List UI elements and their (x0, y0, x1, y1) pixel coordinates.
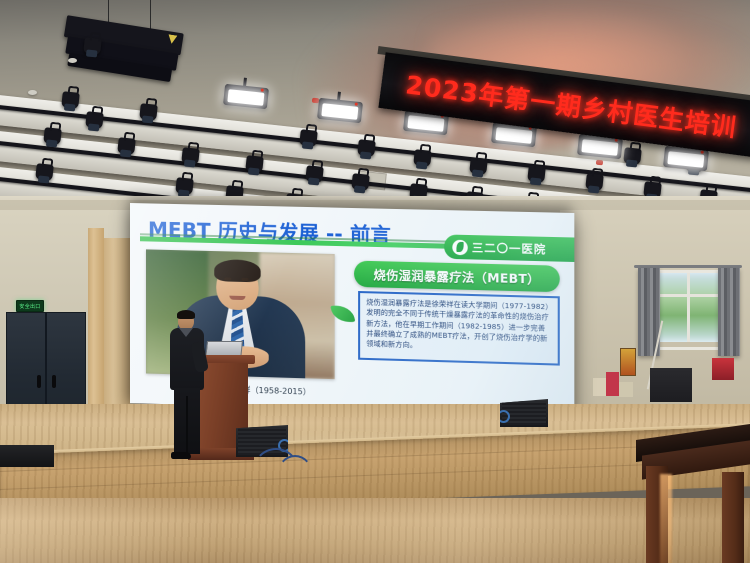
spotlight-fixture (117, 137, 136, 155)
equipment-cabinet (650, 368, 692, 402)
spotlight-fixture (245, 155, 264, 173)
hospital-logo-text: 三二〇一医院 (472, 239, 546, 257)
smoke-detector-icon (68, 58, 77, 63)
flood-light-panel (317, 98, 363, 123)
hospital-logo-badge: 三二〇一医院 (444, 234, 574, 262)
leaf-circle-icon (452, 239, 467, 255)
stage-monitor-right (500, 399, 548, 427)
slide-headline-text: 烧伤湿润暴露疗法（MEBT） (374, 266, 540, 287)
exit-sign-label: 安全出口 (19, 303, 40, 310)
exit-sign: 安全出口 (16, 300, 44, 312)
spotlight-fixture (299, 129, 318, 147)
flood-light-panel (223, 84, 269, 109)
speaker-cable (276, 455, 314, 499)
spotlight-fixture (469, 157, 488, 175)
spotlight-fixture (623, 147, 642, 165)
presenter (168, 312, 206, 464)
spotlight-fixture (181, 147, 200, 165)
smoke-detector-icon (28, 90, 37, 95)
spotlight-fixture (43, 127, 62, 145)
spotlight-fixture (357, 139, 376, 157)
spotlight-fixture (527, 165, 546, 183)
rigging-wire (150, 0, 151, 30)
spotlight-fixture (585, 173, 604, 191)
foreground-table (636, 432, 750, 563)
spotlight-fixture (351, 173, 370, 191)
spotlight-fixture (85, 111, 104, 129)
spotlight-fixture (83, 37, 102, 55)
spotlight-fixture (61, 91, 80, 109)
dark-furniture-left (0, 445, 54, 467)
red-storage-box (712, 358, 734, 380)
slide-body-textbox: 烧伤湿润暴露疗法是徐荣祥在读大学期间（1977-1982）发明的完全不同于传统干… (358, 291, 560, 366)
curtain-right[interactable] (718, 268, 740, 356)
window (640, 268, 736, 354)
spotlight-fixture (139, 103, 158, 121)
slide-body-text: 烧伤湿润暴露疗法是徐荣祥在读大学期间（1977-1982）发明的完全不同于传统干… (366, 297, 551, 355)
lecture-hall-scene: 2023年第一期乡村医生培训 安全出口 MEBT 历 (0, 0, 750, 563)
spotlight-fixture (305, 165, 324, 183)
slide-headline: 烧伤湿润暴露疗法（MEBT） (354, 261, 560, 293)
stacked-boxes (593, 372, 633, 398)
spotlight-fixture (175, 177, 194, 195)
indicator-light-icon (596, 160, 603, 166)
spotlight-fixture (413, 149, 432, 167)
spotlight-fixture (35, 163, 54, 181)
